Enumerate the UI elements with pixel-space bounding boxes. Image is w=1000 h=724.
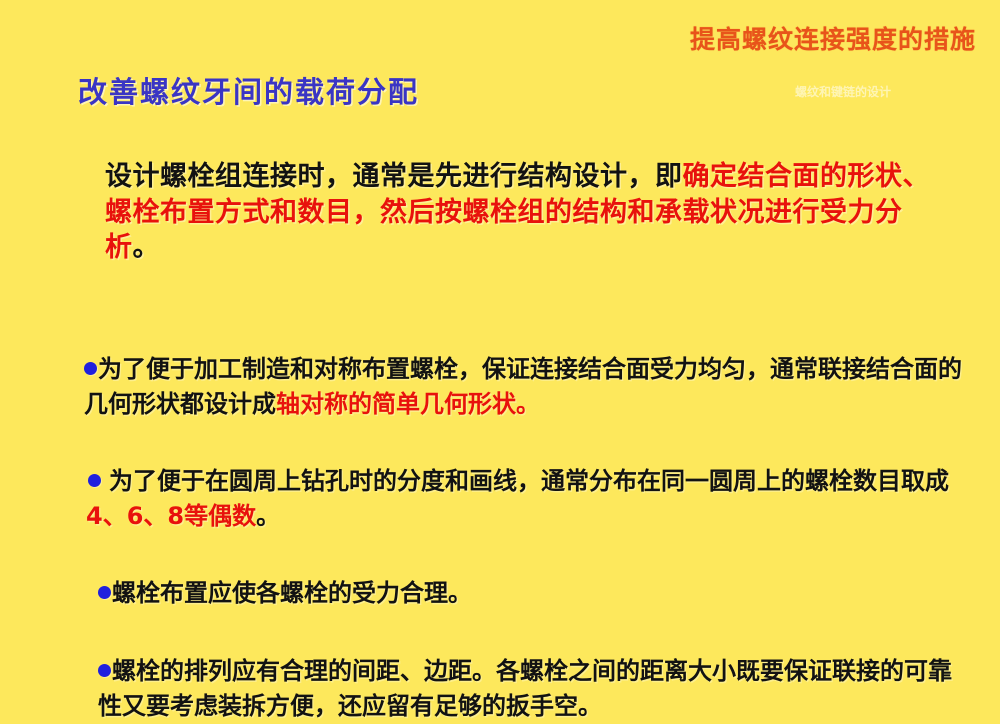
bullet-4-text-black-1: 螺栓的排列应有合理的间距、边距。各螺栓之间的距离大小既要保证联接的可靠性又要考虑… [98, 657, 952, 720]
list-item: 为了便于在圆周上钻孔时的分度和画线，通常分布在同一圆周上的螺栓数目取成4、6、8… [86, 464, 966, 534]
bullet-1-text-red-1: 轴对称的简单几何形状。 [276, 390, 540, 418]
slide-topic-title: 提高螺纹连接强度的措施 [690, 20, 976, 56]
list-item: 为了便于加工制造和对称布置螺栓，保证连接结合面受力均匀，通常联接结合面的几何形状… [84, 352, 964, 422]
bullet-2-text-red-1: 4、6、8等偶数 [86, 502, 256, 530]
list-item: 螺栓布置应使各螺栓的受力合理。 [98, 576, 958, 611]
bullet-2-text-black-1: 为了便于在圆周上钻孔时的分度和画线，通常分布在同一圆周上的螺栓数目取成 [109, 467, 949, 495]
presentation-slide: 提高螺纹连接强度的措施 改善螺纹牙间的载荷分配 螺纹和键链的设计 设计螺栓组连接… [0, 0, 1000, 720]
watermark-text: 螺纹和键链的设计 [795, 83, 891, 100]
section-heading: 改善螺纹牙间的载荷分配 [78, 69, 419, 111]
intro-text-black-2: 。 [133, 232, 161, 263]
intro-paragraph: 设计螺栓组连接时，通常是先进行结构设计，即确定结合面的形状、螺栓布置方式和数目，… [105, 159, 950, 266]
bullet-dot-icon [98, 586, 111, 599]
bullet-2-text-black-2: 。 [256, 502, 280, 530]
intro-text-black-1: 设计螺栓组连接时，通常是先进行结构设计，即 [105, 161, 683, 192]
bullet-dot-icon [84, 362, 97, 375]
bullet-dot-icon [88, 474, 101, 487]
bullet-3-text-black-1: 螺栓布置应使各螺栓的受力合理。 [112, 579, 472, 607]
bullet-dot-icon [98, 664, 111, 677]
list-item: 螺栓的排列应有合理的间距、边距。各螺栓之间的距离大小既要保证联接的可靠性又要考虑… [98, 654, 968, 724]
